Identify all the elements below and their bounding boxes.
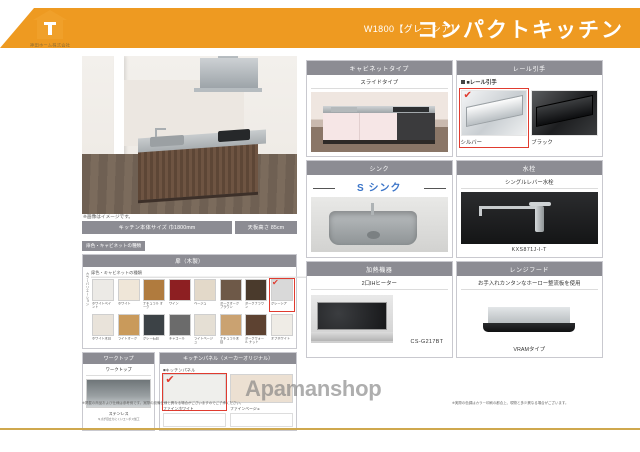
door-swatch-cell[interactable]: ダークウォール ナット — [244, 314, 268, 346]
footer-rule — [0, 428, 640, 430]
kitchen-panel-label: ファインベージュ — [230, 405, 305, 411]
catalog-page: W1800【グレーシア】 コンパクトキッチン 神田ホーム株式会社 ※画像はイメー… — [0, 0, 640, 452]
kitchen-panel-extra-row — [163, 413, 293, 427]
door-swatch-chip — [169, 314, 191, 336]
kitchen-panel-extra-2 — [230, 413, 293, 427]
door-swatch-cell[interactable]: ベージュ — [193, 279, 217, 311]
door-swatch-row-1: ホワイトペイントホワイトナチュラル オークワインベージュダークオーク ブラウンダ… — [91, 279, 294, 311]
faucet-model: KXS871J-I-T — [461, 247, 599, 253]
door-swatch-chip — [245, 314, 267, 336]
door-swatch-label: ナチュラル オーク — [143, 302, 165, 313]
kitchen-panel-label: ファインホワイト — [163, 405, 238, 411]
worktop-sub: キズが目立ちにくいエンボス加工 — [86, 418, 151, 422]
door-swatch-chip — [194, 279, 216, 301]
door-swatch-label: ライトベージュ — [194, 337, 216, 348]
handle-option[interactable]: ✔シルバー — [461, 90, 528, 146]
door-swatch-row-2: ホワイト木目ライトオークグレー石目チャコールライトベージュナチュラル木目ダークウ… — [91, 314, 294, 346]
house-icon — [33, 10, 67, 40]
door-swatch-label: チャコール — [169, 337, 191, 348]
door-color-swatch-panel: 扉（木製） カラーバリエーション 扉色・キャビネットの種類 ホワイトペイントホワ… — [82, 254, 297, 349]
right-column: キャビネットタイプ スライドタイプ レール引手 — [306, 60, 603, 361]
door-section-tag: 扉色・キャビネットの種類 — [82, 241, 145, 251]
cabinet-type-header: キャビネットタイプ — [307, 61, 452, 75]
bullet-square-icon — [461, 80, 465, 84]
door-swatch-cell[interactable]: ホワイト — [117, 279, 141, 311]
sink-title-text: S シンク — [357, 183, 401, 194]
handle-label: ブラック — [531, 138, 598, 146]
door-swatch-chip — [169, 279, 191, 301]
hood-card: レンジフード お手入れカンタンなホーロー整流板を使用 VRAMタイプ — [456, 261, 604, 358]
door-swatch-cell[interactable]: ダークブラウン — [244, 279, 268, 311]
watermark: Apamanshop — [245, 376, 381, 402]
door-swatch-label: ホワイトペイント — [92, 302, 114, 313]
size-caption-row: キッチン本体サイズ 巾1800mm 天板高さ 85cm — [82, 221, 297, 234]
door-swatch-label: グレーシア — [271, 302, 293, 313]
cooktop-header: 加熱機器 — [307, 262, 452, 276]
door-swatch-chip — [143, 314, 165, 336]
door-swatch-cell[interactable]: ホワイト木目 — [91, 314, 115, 346]
handle-subtitle: ■レール引手 — [461, 78, 599, 87]
handle-header: レール引手 — [457, 61, 603, 75]
door-swatch-chip — [118, 314, 140, 336]
worktop-title: ワークトップ — [86, 367, 151, 376]
faucet-card: 水栓 シングルレバー水栓 KXS871J-I-T — [456, 160, 604, 258]
kitchen-size-caption: キッチン本体サイズ 巾1800mm — [82, 221, 232, 234]
door-swatch-chip — [194, 314, 216, 336]
door-swatch-cell[interactable]: ワイン — [168, 279, 192, 311]
door-swatch-chip — [118, 279, 140, 301]
left-column: ※画像はイメージです。 キッチン本体サイズ 巾1800mm 天板高さ 85cm … — [82, 56, 297, 431]
handle-label: シルバー — [461, 138, 528, 146]
cooktop-subtitle: 2口IHヒーター — [311, 279, 448, 290]
door-swatch-header: 扉（木製） — [83, 255, 296, 267]
row-cabinet-handle: キャビネットタイプ スライドタイプ レール引手 — [306, 60, 603, 157]
door-swatch-cell[interactable]: ダークオーク ブラウン — [219, 279, 243, 311]
check-icon: ✔ — [464, 91, 472, 101]
door-swatch-cell[interactable]: ライトオーク — [117, 314, 141, 346]
kitchen-panel-note: ■キッチンパネル — [163, 366, 325, 372]
hood-caption: VRAMタイプ — [461, 345, 599, 353]
handle-options: ✔シルバーブラック — [461, 90, 599, 146]
sink-photo — [311, 197, 448, 252]
door-swatch-cell[interactable]: ナチュラル木目 — [219, 314, 243, 346]
cooktop-model: CS-G217BT — [411, 339, 444, 345]
cabinet-type-card: キャビネットタイプ スライドタイプ — [306, 60, 453, 157]
cabinet-type-subtitle: スライドタイプ — [311, 78, 448, 89]
handle-card: レール引手 ■レール引手 ✔シルバーブラック — [456, 60, 604, 157]
door-swatch-cell[interactable]: ✔グレーシア — [270, 279, 294, 311]
handle-subtitle-text: ■レール引手 — [467, 80, 497, 86]
door-swatch-chip — [92, 279, 114, 301]
door-swatch-chip — [220, 279, 242, 301]
door-swatch-label: ベージュ — [194, 302, 216, 313]
door-swatch-label: ダークオーク ブラウン — [220, 302, 242, 313]
kitchen-panel-extra-1 — [163, 413, 226, 427]
row-cooktop-hood: 加熱機器 2口IHヒーター CS-G217BT レンジフード お手入れカンタンな… — [306, 261, 603, 358]
cooktop-photo: CS-G217BT — [311, 293, 448, 349]
faucet-photo — [461, 192, 599, 244]
page-title: コンパクトキッチン — [417, 14, 624, 44]
door-swatch-label: ナチュラル木目 — [220, 337, 242, 348]
door-swatch-label: ホワイト — [118, 302, 140, 313]
check-icon: ✔ — [165, 375, 174, 386]
row-sink-faucet: シンク S シンク 水栓 シングルレバー水栓 — [306, 160, 603, 258]
door-swatch-label: ダークウォール ナット — [245, 337, 267, 348]
page-header: W1800【グレーシア】 コンパクトキッチン 神田ホーム株式会社 — [0, 8, 640, 48]
handle-option[interactable]: ブラック — [531, 90, 598, 146]
counter-height-caption: 天板高さ 85cm — [235, 221, 297, 234]
door-swatch-chip — [271, 314, 293, 336]
worktop-header: ワークトップ — [83, 353, 154, 364]
footer-note-left: ※掲載の商品および仕様は参考例です。実際の設備仕様と異なる場合がございますのでご… — [82, 401, 243, 406]
door-swatch-label: ダークブラウン — [245, 302, 267, 313]
door-swatch-cell[interactable]: ライトベージュ — [193, 314, 217, 346]
sink-card: シンク S シンク — [306, 160, 453, 258]
door-swatch-label: グレー石目 — [143, 337, 165, 348]
door-swatch-cell[interactable]: オフホワイト — [270, 314, 294, 346]
sink-title: S シンク — [311, 178, 448, 197]
door-swatch-label: ライトオーク — [118, 337, 140, 348]
cooktop-card: 加熱機器 2口IHヒーター CS-G217BT — [306, 261, 453, 358]
sink-header: シンク — [307, 161, 452, 175]
cabinet-photo — [311, 92, 448, 152]
hood-header: レンジフード — [457, 262, 603, 276]
door-swatch-label: オフホワイト — [271, 337, 293, 348]
faucet-header: 水栓 — [457, 161, 603, 175]
kitchen-render-image — [82, 56, 297, 214]
door-swatch-chip — [92, 314, 114, 336]
logo-caption: 神田ホーム株式会社 — [30, 41, 70, 47]
door-swatch-label: ワイン — [169, 302, 191, 313]
door-swatch-label: ホワイト木目 — [92, 337, 114, 348]
worktop-panel: ワークトップ ワークトップ ステンレス キズが目立ちにくいエンボス加工 — [82, 352, 155, 431]
check-icon: ✔ — [272, 279, 279, 287]
kitchen-panel-header: キッチンパネル（メーカーオリジナル） — [160, 353, 296, 364]
handle-photo — [531, 90, 598, 136]
door-swatch-chip — [143, 279, 165, 301]
hood-photo — [461, 293, 599, 343]
door-swatch-cell[interactable]: グレー石目 — [142, 314, 166, 346]
company-logo: 神田ホーム株式会社 — [22, 10, 78, 56]
footer-note-right: ※実際の色調はカラー印刷の都合上、現物と多少異なる場合がございます。 — [452, 401, 568, 406]
hood-subtitle: お手入れカンタンなホーロー整流板を使用 — [461, 279, 599, 290]
door-swatch-cell[interactable]: ナチュラル オーク — [142, 279, 166, 311]
door-swatch-cell[interactable]: チャコール — [168, 314, 192, 346]
door-swatch-chip — [245, 279, 267, 301]
faucet-subtitle: シングルレバー水栓 — [461, 178, 599, 189]
door-swatch-chip — [220, 314, 242, 336]
door-swatch-cell[interactable]: ホワイトペイント — [91, 279, 115, 311]
